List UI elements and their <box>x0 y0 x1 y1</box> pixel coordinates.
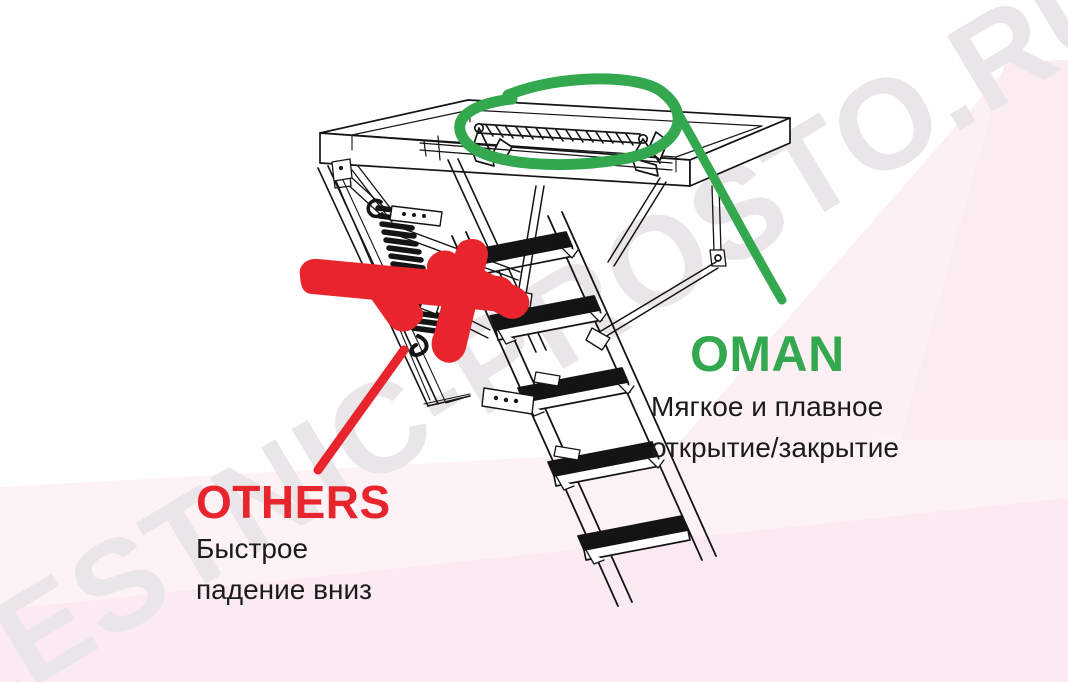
green-pointer-line <box>676 110 782 300</box>
annotation-layer <box>0 0 1068 682</box>
infographic-canvas: LESTNIC-PROSTO.RU <box>0 0 1068 682</box>
green-ellipse-stroke <box>460 79 678 165</box>
red-cross-annotation <box>300 239 530 470</box>
green-circle-annotation <box>460 79 782 300</box>
red-arrow-tail <box>318 350 404 470</box>
